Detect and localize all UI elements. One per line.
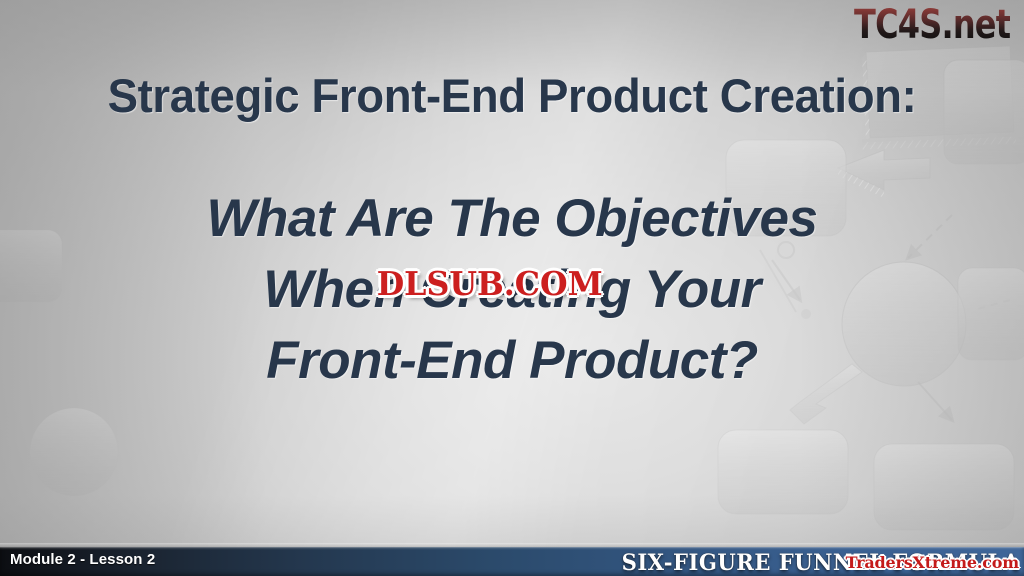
page-title: Strategic Front-End Product Creation: [15, 68, 1008, 123]
tradersxtreme-watermark: TradersXtreme.com [846, 553, 1019, 572]
slide-canvas: TC4S.net Strategic Front-End Product Cre… [0, 0, 1024, 576]
tc4s-logo: TC4S.net [854, 2, 1010, 48]
question-line-1: What Are The Objectives [0, 183, 1024, 254]
lesson-label: Module 2 - Lesson 2 [10, 551, 155, 568]
dlsub-watermark: DLSUB.COM [377, 264, 603, 303]
question-line-3: Front-End Product? [0, 325, 1024, 396]
